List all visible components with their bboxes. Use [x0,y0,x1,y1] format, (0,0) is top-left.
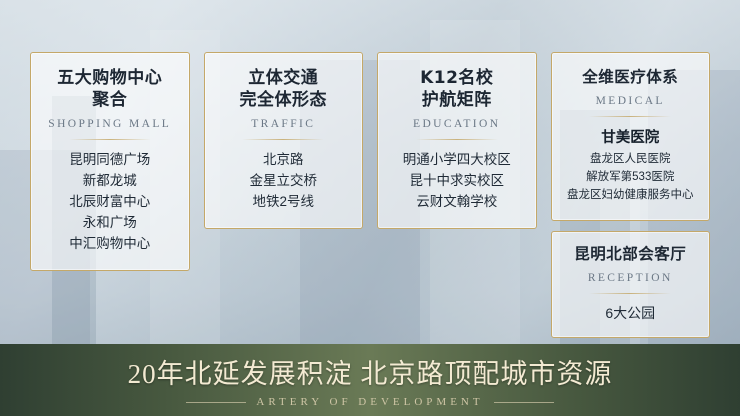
card-item: 北辰财富中心 [39,191,181,212]
banner-headline: 20年北延发展积淀 北京路顶配城市资源 [128,352,613,391]
card-title-line1: 全维医疗体系 [560,67,702,88]
card-divider [242,139,324,140]
poster-root: 五大购物中心 聚合 SHOPPING MALL 昆明同德广场 新都龙城 北辰财富… [0,0,740,416]
card-item: 盘龙区妇幼健康服务中心 [560,186,702,204]
card-column-shopping: 五大购物中心 聚合 SHOPPING MALL 昆明同德广场 新都龙城 北辰财富… [30,52,190,271]
banner-rule-right [494,402,554,403]
card-title-line1: K12名校 [386,67,528,89]
card-item: 金星立交桥 [213,170,355,191]
card-item: 明通小学四大校区 [386,149,528,170]
card-divider [589,293,671,294]
card-item: 中汇购物中心 [39,233,181,254]
banner-rule-left [186,402,246,403]
card-item: 地铁2号线 [213,191,355,212]
banner-subline: ARTERY OF DEVELOPMENT [256,396,483,408]
bottom-banner: 20年北延发展积淀 北京路顶配城市资源 ARTERY OF DEVELOPMEN… [0,344,740,416]
card-title-line1: 立体交通 [213,67,355,89]
card-heading-hospital: 甘美医院 [560,126,702,147]
card-subtitle: MEDICAL [560,95,702,107]
card-item: 昆明同德广场 [39,149,181,170]
card-traffic: 立体交通 完全体形态 TRAFFIC 北京路 金星立交桥 地铁2号线 [204,52,364,229]
card-divider [69,139,151,140]
card-item: 北京路 [213,149,355,170]
card-item: 昆十中求实校区 [386,170,528,191]
card-item: 6大公园 [560,303,702,323]
card-title-line2: 护航矩阵 [386,89,528,111]
feature-card-row: 五大购物中心 聚合 SHOPPING MALL 昆明同德广场 新都龙城 北辰财富… [30,52,710,338]
card-column-education: K12名校 护航矩阵 EDUCATION 明通小学四大校区 昆十中求实校区 云财… [377,52,537,229]
card-item: 解放军第533医院 [560,168,702,186]
card-reception: 昆明北部会客厅 RECEPTION 6大公园 [551,231,711,338]
card-item: 永和广场 [39,212,181,233]
card-title-line1: 五大购物中心 [39,67,181,89]
card-title-line2: 聚合 [39,89,181,111]
card-title-line1: 昆明北部会客厅 [560,244,702,265]
card-shopping-mall: 五大购物中心 聚合 SHOPPING MALL 昆明同德广场 新都龙城 北辰财富… [30,52,190,271]
card-item: 新都龙城 [39,170,181,191]
card-divider [589,116,671,117]
card-medical: 全维医疗体系 MEDICAL 甘美医院 盘龙区人民医院 解放军第533医院 盘龙… [551,52,711,221]
banner-subline-wrap: ARTERY OF DEVELOPMENT [186,396,553,408]
card-title-line2: 完全体形态 [213,89,355,111]
card-subtitle: RECEPTION [560,272,702,284]
card-item: 云财文翰学校 [386,191,528,212]
card-item: 盘龙区人民医院 [560,150,702,168]
card-column-medical: 全维医疗体系 MEDICAL 甘美医院 盘龙区人民医院 解放军第533医院 盘龙… [551,52,711,338]
card-column-traffic: 立体交通 完全体形态 TRAFFIC 北京路 金星立交桥 地铁2号线 [204,52,364,229]
card-divider [416,139,498,140]
card-subtitle: TRAFFIC [213,118,355,130]
card-subtitle: SHOPPING MALL [39,118,181,130]
card-education: K12名校 护航矩阵 EDUCATION 明通小学四大校区 昆十中求实校区 云财… [377,52,537,229]
card-subtitle: EDUCATION [386,118,528,130]
